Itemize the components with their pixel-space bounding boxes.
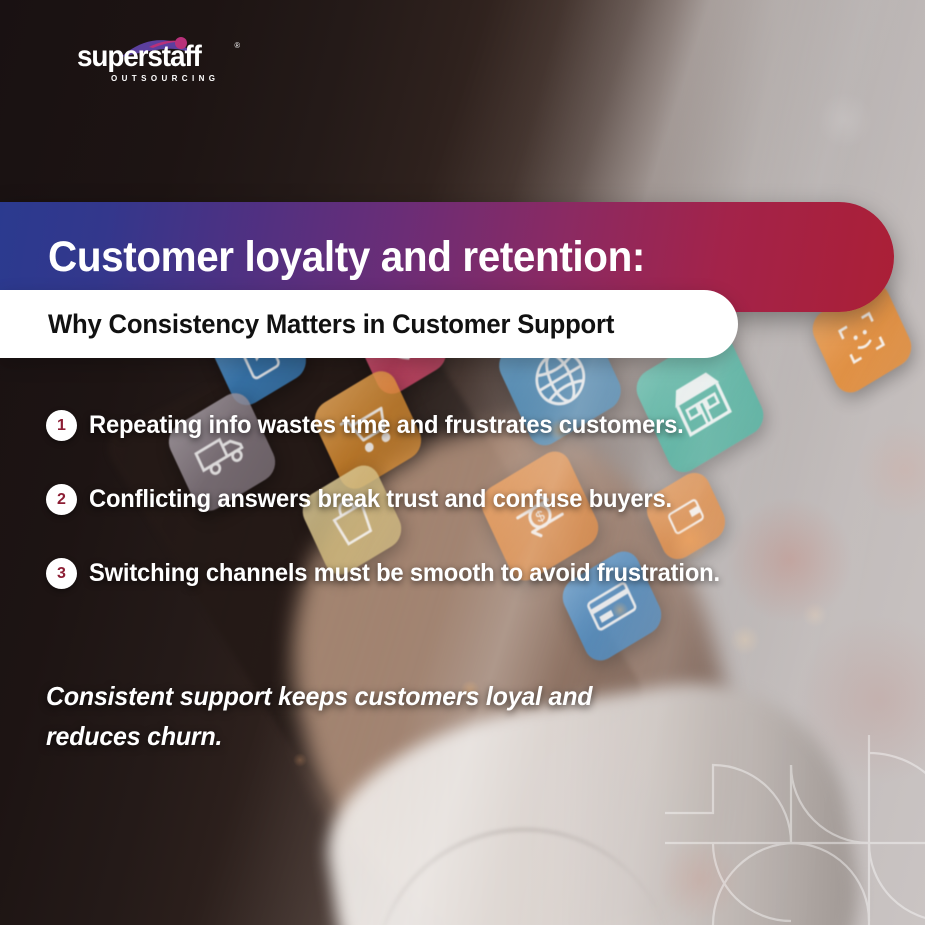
- page-title: Customer loyalty and retention:: [48, 233, 645, 282]
- logo-tagline: OUTSOURCING: [111, 74, 242, 83]
- page-subtitle: Why Consistency Matters in Customer Supp…: [48, 309, 614, 340]
- registered-trademark-icon: ®: [234, 42, 238, 50]
- logo-wordmark: superstaff®: [77, 42, 230, 72]
- bullet-number-badge: 3: [46, 558, 77, 589]
- bullet-item: 1Repeating info wastes time and frustrat…: [46, 410, 746, 441]
- bullet-item: 2Conflicting answers break trust and con…: [46, 484, 746, 515]
- bullet-item: 3Switching channels must be smooth to av…: [46, 558, 746, 589]
- subtitle-banner: Why Consistency Matters in Customer Supp…: [0, 290, 738, 358]
- bullet-number-badge: 2: [46, 484, 77, 515]
- bullet-text: Repeating info wastes time and frustrate…: [89, 411, 684, 440]
- bullet-list: 1Repeating info wastes time and frustrat…: [46, 410, 746, 632]
- closing-statement: Consistent support keeps customers loyal…: [46, 676, 641, 757]
- bullet-text: Switching channels must be smooth to avo…: [89, 559, 720, 588]
- infographic-canvas: $ superstaff® OUTSOURCING Customer: [0, 0, 925, 925]
- brand-logo[interactable]: superstaff® OUTSOURCING: [77, 42, 242, 83]
- closing-line-1: Consistent support keeps customers loyal…: [46, 676, 641, 716]
- logo-word-text: superstaff: [77, 40, 201, 73]
- bullet-number-badge: 1: [46, 410, 77, 441]
- closing-line-2: reduces churn.: [46, 716, 641, 756]
- bullet-text: Conflicting answers break trust and conf…: [89, 485, 672, 514]
